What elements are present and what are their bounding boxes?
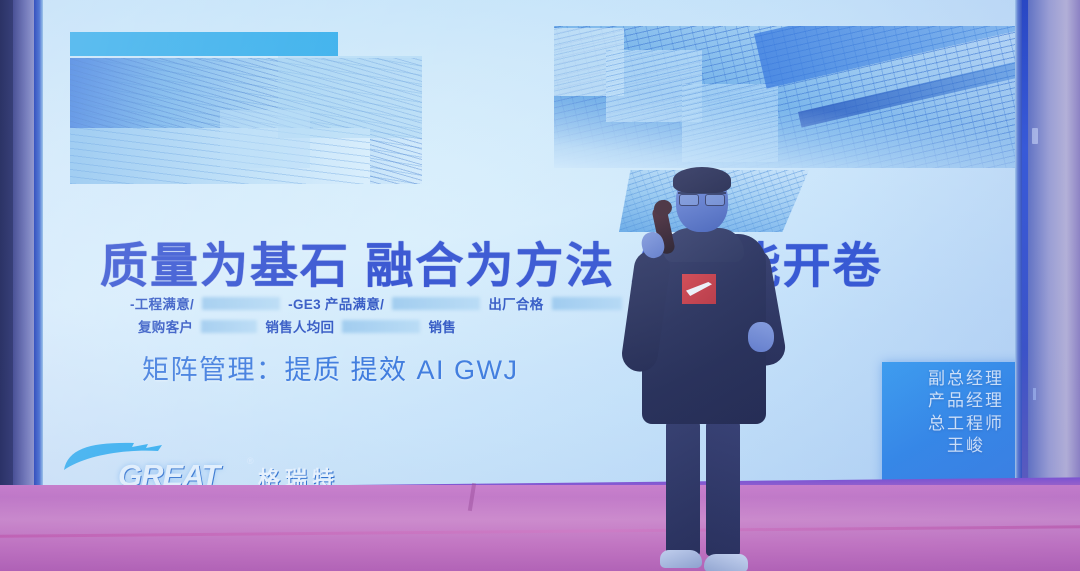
subtitle-segment: -GE3 产品满意/ — [288, 293, 384, 313]
conference-stage-scene: 质量为基石 融合为方法 AI赋能开卷 -工程满意/ -GE3 产品满意/ 出厂合… — [0, 0, 1080, 571]
shoe-right — [704, 554, 748, 571]
subtitle-segment: 销售人均回 — [265, 316, 334, 336]
wall-switch-icon — [1032, 128, 1038, 144]
redacted-value — [392, 297, 480, 310]
screen-frame-right — [1015, 0, 1022, 500]
architecture-louvers-photo — [70, 32, 422, 184]
company-logo: GREAT ® 格瑞特 — [62, 440, 354, 490]
left-wall-shadow — [0, 0, 13, 500]
glasses-icon — [678, 192, 726, 205]
floor-crack — [468, 483, 476, 511]
subtitle-segment: 复购客户 — [138, 316, 193, 336]
photo-fade-overlay — [554, 26, 1016, 168]
presenter-name: 王峻 — [882, 435, 1022, 457]
presenter-role-1: 副总经理 — [882, 362, 1022, 390]
screen-frame-left — [34, 0, 43, 500]
projection-screen: 质量为基石 融合为方法 AI赋能开卷 -工程满意/ -GE3 产品满意/ 出厂合… — [34, 0, 1022, 500]
presenter-role-2: 产品经理 — [882, 390, 1022, 412]
leg-left — [666, 418, 700, 556]
glass-pane-secondary — [220, 110, 310, 168]
floor-seam — [0, 525, 1080, 537]
presenter-legs — [664, 418, 742, 570]
subtitle-segment: 出厂合格 — [488, 293, 543, 313]
hand-right — [748, 322, 774, 352]
registered-trademark-icon: ® — [247, 456, 254, 466]
wall-marker-icon — [1033, 388, 1036, 400]
skyscraper-grid-photo — [554, 26, 1016, 168]
subtitle-segment: 销售 — [428, 316, 456, 336]
slide-subtitle-line-2: 复购客户 销售人均回 销售 — [138, 316, 456, 336]
leg-right — [706, 418, 740, 556]
redacted-value — [552, 297, 622, 310]
hoodie-collar — [664, 228, 744, 262]
redacted-value — [201, 320, 257, 333]
presenter-role-3: 总工程师 — [882, 413, 1022, 435]
shoe-left — [660, 550, 702, 568]
accent-bar — [70, 32, 338, 56]
slide-subtitle-line-3: 矩阵管理：提质 提效 AI GWJ — [142, 348, 519, 387]
redacted-value — [342, 320, 420, 333]
slide-subtitle-line-1: -工程满意/ -GE3 产品满意/ 出厂合格 合格 — [130, 293, 657, 313]
stage-floor — [0, 485, 1080, 571]
presenter-person — [620, 170, 790, 570]
subtitle-segment: -工程满意/ — [130, 293, 194, 313]
redacted-value — [202, 297, 280, 310]
presenter-hair — [673, 167, 731, 193]
